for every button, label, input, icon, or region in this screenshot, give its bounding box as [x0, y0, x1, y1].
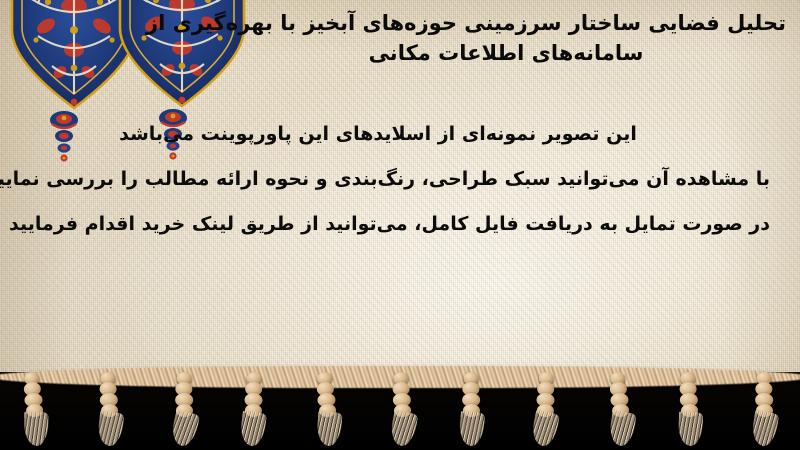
fringe-tassel [237, 371, 267, 446]
fringe-tassel [95, 372, 122, 446]
slide-title: تحلیل فضایی ساختار سرزمینی حوزه‌های آبخی… [186, 8, 786, 68]
tassel-brush [24, 412, 48, 446]
tassel-brush [608, 410, 637, 447]
slide-body: این تصویر نمونه‌ای از اسلایدهای این پاور… [26, 112, 770, 247]
slide-body-line-3: در صورت تمایل به دریافت فایل کامل، می‌تو… [26, 202, 770, 247]
fringe-tassel [457, 372, 484, 446]
fringe-tassel [750, 372, 777, 446]
tassel-brush [238, 411, 266, 448]
slide-body-line-1: این تصویر نمونه‌ای از اسلایدهای این پاور… [26, 112, 770, 157]
fringe-tassel [170, 372, 197, 446]
tassel-brush [750, 410, 779, 447]
fringe-tassel [605, 371, 635, 446]
tassel-brush [316, 411, 343, 447]
fringe-tassel [388, 372, 415, 446]
tassel-brush [530, 410, 560, 448]
tassel-brush [388, 410, 418, 448]
slide-canvas: تحلیل فضایی ساختار سرزمینی حوزه‌های آبخی… [0, 0, 800, 450]
tassel-brush [458, 411, 485, 447]
tassel-brush [677, 411, 703, 446]
fringe-tassel [675, 372, 702, 446]
slide-title-line-2: سامانه‌های اطلاعات مکانی [186, 38, 786, 68]
fringe-tassel [19, 371, 49, 446]
fringe-tassel [312, 371, 342, 446]
tassel-brush [97, 411, 125, 448]
slide-title-line-1: تحلیل فضایی ساختار سرزمینی حوزه‌های آبخی… [186, 8, 786, 38]
slide-body-line-2: با مشاهده آن می‌توانید سبک طراحی، رنگ‌بن… [26, 157, 770, 202]
fringe-tassel [530, 371, 560, 446]
tassel-brush [169, 410, 200, 449]
carpet-fringe-tassels [0, 350, 800, 450]
